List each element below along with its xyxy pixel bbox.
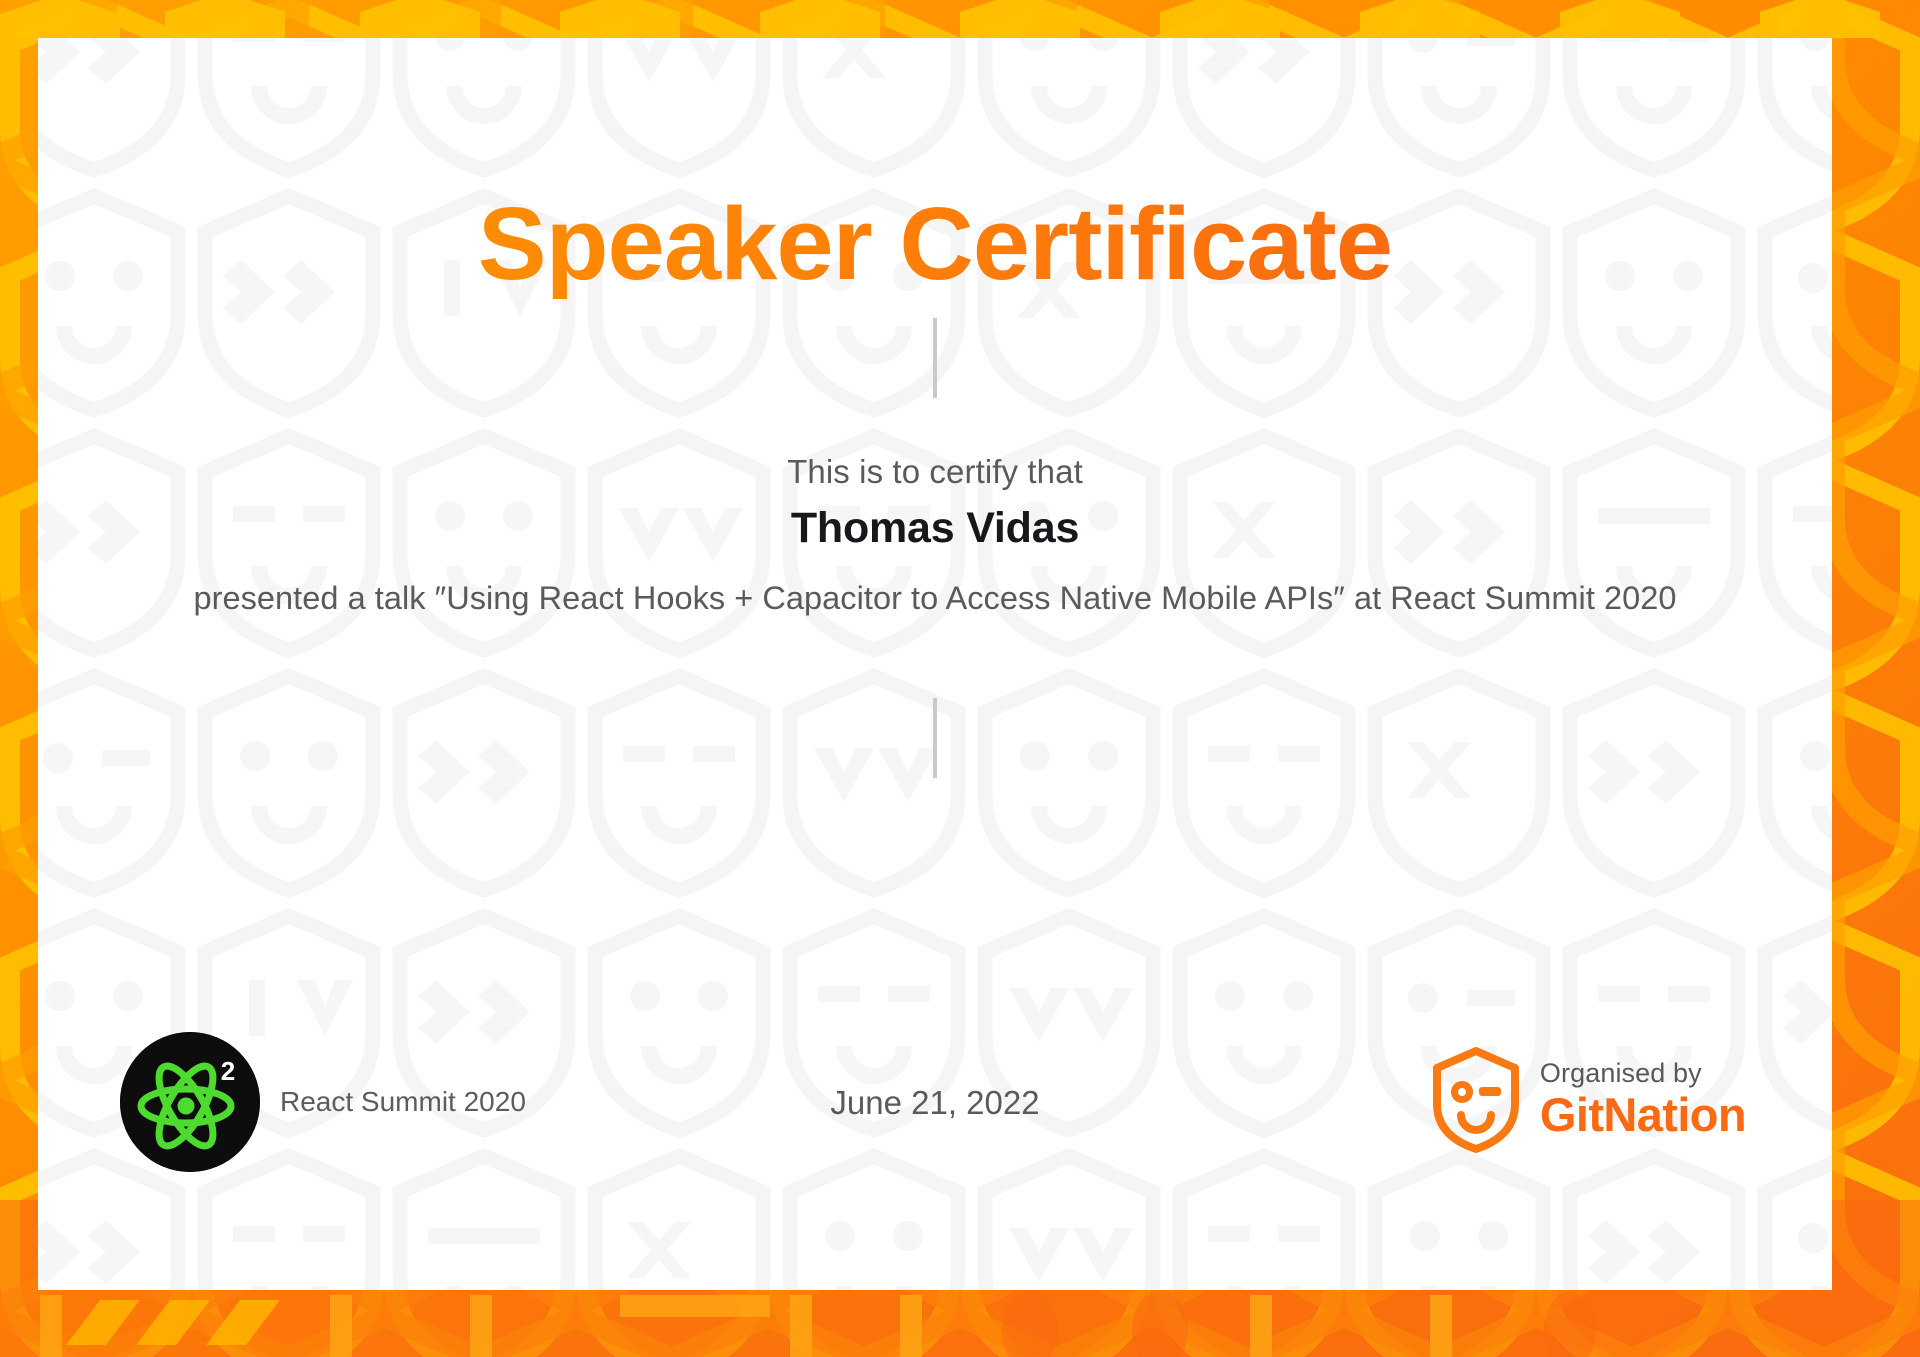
certificate-footer: 2 React Summit 2020 June 21, 2022: [38, 1032, 1832, 1172]
svg-text:2: 2: [221, 1056, 235, 1086]
vertical-divider-bottom: [933, 698, 937, 778]
organiser-block: Organised by GitNation: [1430, 1046, 1746, 1154]
page-title: Speaker Certificate: [38, 188, 1832, 299]
gitnation-shield-wink-icon: [1430, 1046, 1522, 1154]
recipient-name: Thomas Vidas: [38, 504, 1832, 553]
organised-by-label: Organised by: [1540, 1059, 1746, 1088]
talk-statement: presented a talk ″Using React Hooks + Ca…: [178, 578, 1692, 620]
speaker-certificate: Speaker Certificate This is to certify t…: [0, 0, 1920, 1357]
certify-line: This is to certify that: [38, 453, 1832, 491]
vertical-divider-top: [933, 318, 937, 398]
organiser-name: GitNation: [1540, 1090, 1746, 1141]
certificate-card: Speaker Certificate This is to certify t…: [38, 38, 1832, 1290]
